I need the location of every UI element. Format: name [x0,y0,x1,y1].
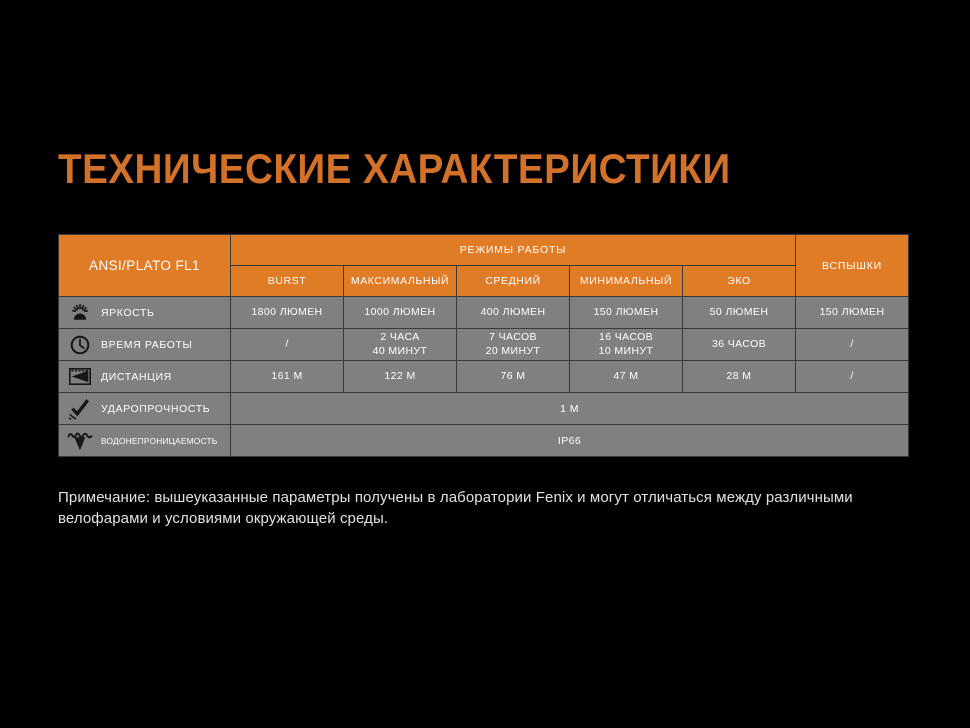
sun-rays-icon [67,302,93,324]
row-label-text: ВРЕМЯ РАБОТЫ [101,339,192,351]
header-mode-medium: СРЕДНИЙ [457,266,570,297]
cell-runtime-flash: / [796,329,909,361]
table-row: УДАРОПРОЧНОСТЬ 1 М [59,393,909,425]
table-row: ЯРКОСТЬ 1800 ЛЮМЕН 1000 ЛЮМЕН 400 ЛЮМЕН … [59,297,909,329]
row-label-text: УДАРОПРОЧНОСТЬ [101,403,210,415]
cell-runtime-medium: 7 ЧАСОВ20 МИНУТ [457,329,570,361]
cell-distance-maximum: 122 М [344,361,457,393]
table-row: ВРЕМЯ РАБОТЫ / 2 ЧАСА40 МИНУТ 7 ЧАСОВ20 … [59,329,909,361]
footnote: Примечание: вышеуказанные параметры полу… [58,487,920,530]
cell-distance-flash: / [796,361,909,393]
cell-brightness-flash: 150 ЛЮМЕН [796,297,909,329]
header-row-top: ANSI/PLATO FL1 РЕЖИМЫ РАБОТЫ ВСПЫШКИ [59,235,909,266]
header-ansi-plato: ANSI/PLATO FL1 [59,235,231,297]
table-body: ЯРКОСТЬ 1800 ЛЮМЕН 1000 ЛЮМЕН 400 ЛЮМЕН … [59,297,909,457]
cell-runtime-maximum: 2 ЧАСА40 МИНУТ [344,329,457,361]
clock-icon [67,334,93,356]
beam-distance-icon [67,366,93,388]
cell-impact-resistance-value: 1 М [231,393,909,425]
table-header: ANSI/PLATO FL1 РЕЖИМЫ РАБОТЫ ВСПЫШКИ BUR… [59,235,909,297]
table-row: ДИСТАНЦИЯ 161 М 122 М 76 М 47 М 28 М / [59,361,909,393]
cell-brightness-minimum: 150 ЛЮМЕН [570,297,683,329]
header-flashes: ВСПЫШКИ [796,235,909,297]
header-modes-group: РЕЖИМЫ РАБОТЫ [231,235,796,266]
cell-brightness-burst: 1800 ЛЮМЕН [231,297,344,329]
cell-brightness-maximum: 1000 ЛЮМЕН [344,297,457,329]
cell-runtime-minimum: 16 ЧАСОВ10 МИНУТ [570,329,683,361]
table-row: ВОДОНЕПРОНИЦАЕМОСТЬ IP66 [59,425,909,457]
header-mode-burst: BURST [231,266,344,297]
specifications-table: ANSI/PLATO FL1 РЕЖИМЫ РАБОТЫ ВСПЫШКИ BUR… [58,234,909,457]
row-label-impact-resistance: УДАРОПРОЧНОСТЬ [59,393,231,425]
impact-check-icon [67,398,93,420]
cell-distance-eco: 28 М [683,361,796,393]
water-splash-icon [67,430,93,452]
cell-runtime-eco: 36 ЧАСОВ [683,329,796,361]
row-label-text: ДИСТАНЦИЯ [101,371,172,383]
cell-brightness-eco: 50 ЛЮМЕН [683,297,796,329]
header-mode-eco: ЭКО [683,266,796,297]
spec-slide: ТЕХНИЧЕСКИЕ ХАРАКТЕРИСТИКИ ANSI/PLATO FL… [0,0,970,728]
cell-runtime-burst: / [231,329,344,361]
cell-distance-burst: 161 М [231,361,344,393]
row-label-runtime: ВРЕМЯ РАБОТЫ [59,329,231,361]
row-label-distance: ДИСТАНЦИЯ [59,361,231,393]
cell-waterproof-value: IP66 [231,425,909,457]
page-title: ТЕХНИЧЕСКИЕ ХАРАКТЕРИСТИКИ [58,148,731,190]
cell-distance-medium: 76 М [457,361,570,393]
header-mode-minimum: МИНИМАЛЬНЫЙ [570,266,683,297]
row-label-brightness: ЯРКОСТЬ [59,297,231,329]
header-mode-maximum: МАКСИМАЛЬНЫЙ [344,266,457,297]
cell-distance-minimum: 47 М [570,361,683,393]
cell-brightness-medium: 400 ЛЮМЕН [457,297,570,329]
row-label-text: ВОДОНЕПРОНИЦАЕМОСТЬ [101,436,218,446]
row-label-text: ЯРКОСТЬ [101,307,155,319]
row-label-waterproof: ВОДОНЕПРОНИЦАЕМОСТЬ [59,425,231,457]
